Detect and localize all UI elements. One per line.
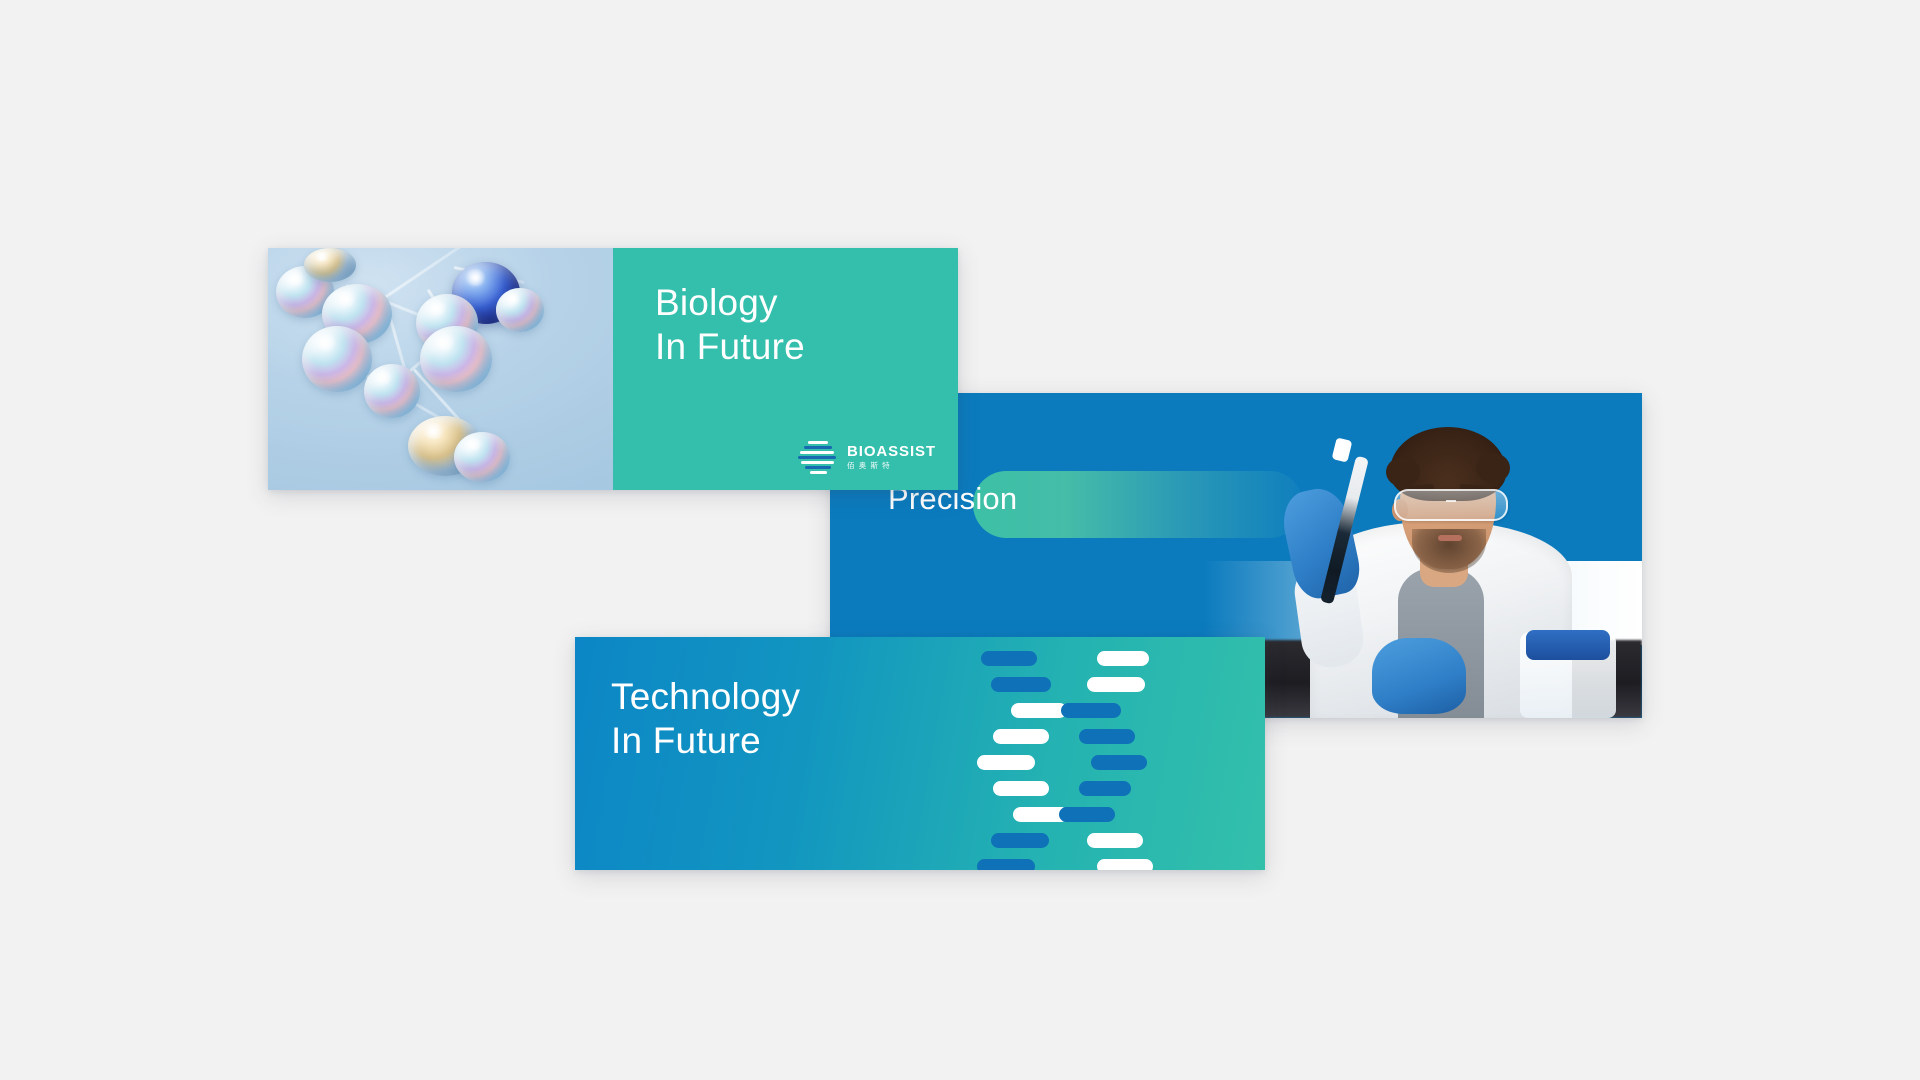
glove-lower	[1372, 638, 1466, 714]
biology-title: Biology In Future	[655, 281, 805, 368]
dna-gel-ladder-icon	[975, 651, 1165, 856]
gel-bar-left-5	[993, 781, 1049, 796]
gel-bar-left-3	[993, 729, 1049, 744]
card-technology[interactable]: Technology In Future	[575, 637, 1265, 870]
lips	[1438, 535, 1462, 541]
biology-photo	[268, 248, 613, 490]
pipette-tip	[1332, 437, 1353, 462]
gel-bar-left-0	[981, 651, 1037, 666]
gel-bar-left-2	[1011, 703, 1067, 718]
technology-title: Technology In Future	[611, 675, 800, 762]
gel-bar-right-6	[1059, 807, 1115, 822]
gel-bar-right-5	[1079, 781, 1131, 796]
gel-bar-left-4	[977, 755, 1035, 770]
gel-bar-right-0	[1097, 651, 1149, 666]
biology-text-pane: Biology In Future BIOASSIST 佰奥斯特	[613, 248, 958, 490]
gel-bar-right-7	[1087, 833, 1143, 848]
gel-bar-right-8	[1097, 859, 1153, 870]
gel-bar-right-2	[1061, 703, 1121, 718]
gel-bar-left-1	[991, 677, 1051, 692]
molecule-illustration-icon	[268, 248, 613, 490]
bioassist-name: BIOASSIST	[847, 444, 936, 459]
gel-bar-right-4	[1091, 755, 1147, 770]
gel-bar-right-3	[1079, 729, 1135, 744]
gel-bar-right-1	[1087, 677, 1145, 692]
gel-bar-left-7	[991, 833, 1049, 848]
bioassist-logo[interactable]: BIOASSIST 佰奥斯特	[798, 440, 936, 474]
banner-stage: Biology In Future BIOASSIST 佰奥斯特	[0, 0, 1920, 1080]
card-biology[interactable]: Biology In Future BIOASSIST 佰奥斯特	[268, 248, 958, 490]
safety-goggles-icon	[1394, 489, 1508, 521]
bottle-cap	[1526, 630, 1610, 660]
bioassist-bars-icon	[798, 440, 838, 474]
precision-photo	[1252, 393, 1642, 718]
bioassist-wordmark: BIOASSIST 佰奥斯特	[847, 444, 936, 470]
bioassist-chinese-name: 佰奥斯特	[847, 462, 936, 470]
gel-bar-left-8	[977, 859, 1035, 870]
